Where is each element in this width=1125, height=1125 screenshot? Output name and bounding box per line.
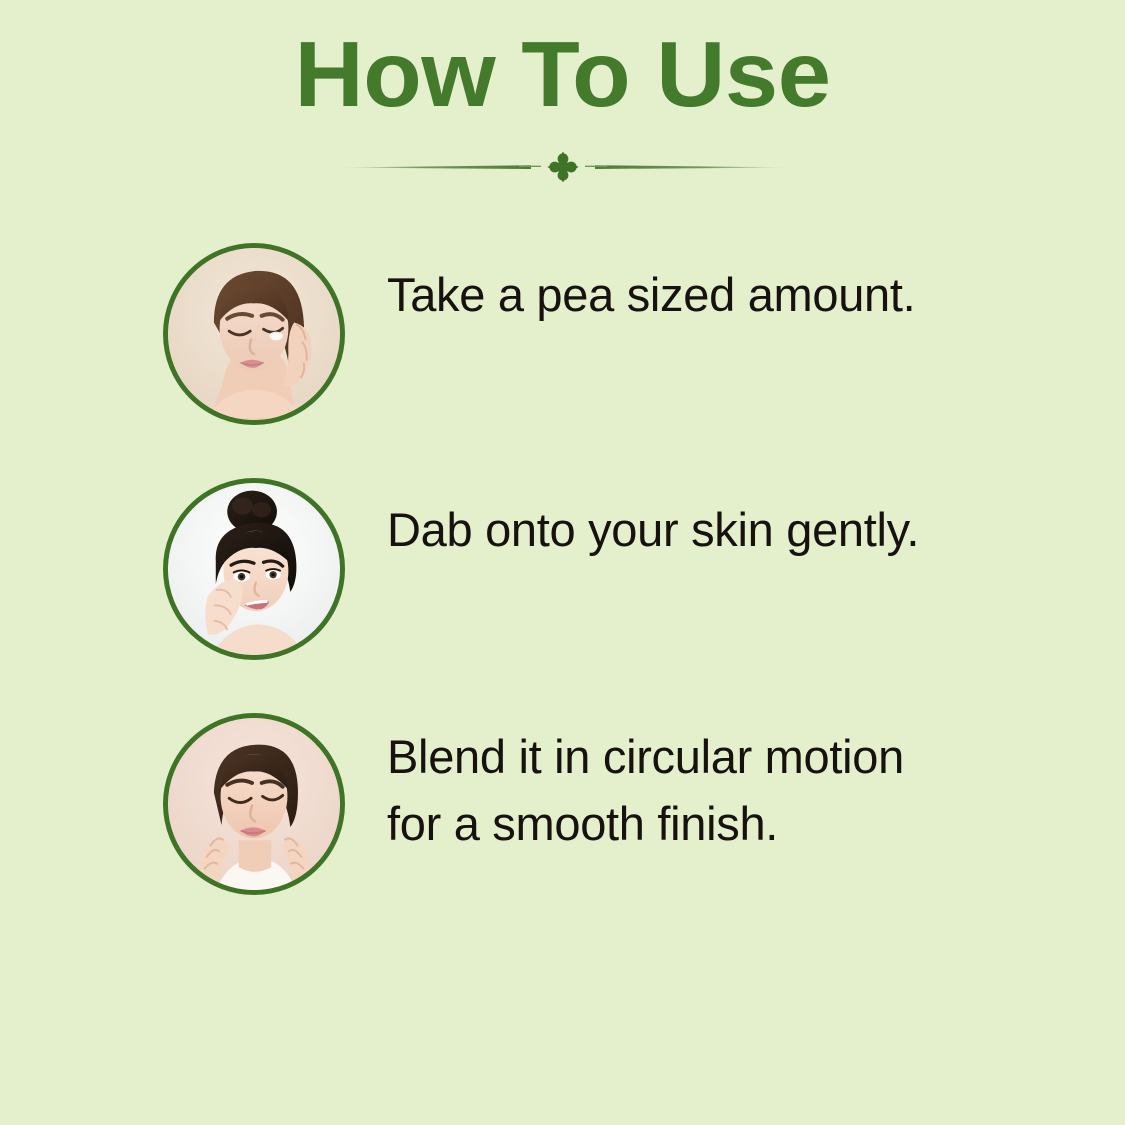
page-title: How To Use [0, 0, 1125, 124]
title-divider [0, 152, 1125, 182]
step-2-avatar [163, 478, 345, 660]
step-1-text: Take a pea sized amount. [387, 261, 947, 328]
list-item: Dab onto your skin gently. [0, 478, 1125, 713]
list-item: Blend it in circular motion for a smooth… [0, 713, 1125, 913]
quatrefoil-ornament-icon [333, 152, 793, 182]
header: How To Use [0, 0, 1125, 124]
step-3-text: Blend it in circular motion for a smooth… [387, 723, 947, 857]
step-2-text: Dab onto your skin gently. [387, 496, 947, 563]
how-to-use-card: How To Use [0, 0, 1125, 1125]
woman-dabbing-skin-photo [168, 483, 340, 655]
woman-massaging-face-photo [168, 718, 340, 890]
woman-applying-cream-to-cheek-photo [168, 248, 340, 420]
step-3-avatar [163, 713, 345, 895]
steps-list: Take a pea sized amount. [0, 243, 1125, 913]
step-1-avatar [163, 243, 345, 425]
list-item: Take a pea sized amount. [0, 243, 1125, 478]
